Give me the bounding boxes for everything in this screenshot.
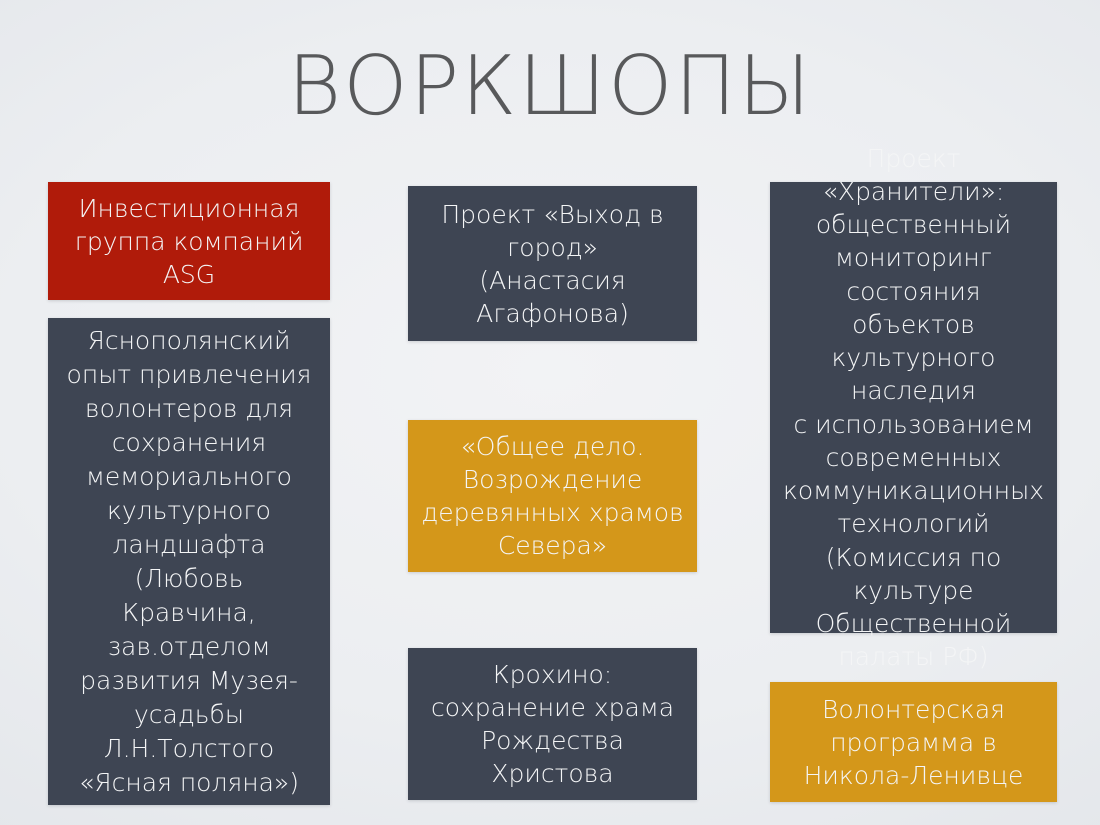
card-investment-group-asg[interactable]: Инвестиционная группа компаний ASG <box>48 182 330 300</box>
card-project-vyhod-v-gorod[interactable]: Проект «Выход в город» (Анастасия Агафон… <box>408 186 697 341</box>
card-label: «Общее дело. Возрождение деревянных храм… <box>420 430 685 562</box>
card-label: Волонтерская программа в Никола-Ленивце <box>782 693 1045 792</box>
card-label: Проект «Выход в город» (Анастасия Агафон… <box>420 198 685 330</box>
card-label: Крохино: сохранение храма Рождества Хрис… <box>420 658 685 790</box>
card-project-hraniteli-monitoring[interactable]: Проект «Хранители»: общественный монитор… <box>770 182 1057 633</box>
card-volunteer-program-nikola-lenivets[interactable]: Волонтерская программа в Никола-Ленивце <box>770 682 1057 802</box>
card-label: Инвестиционная группа компаний ASG <box>60 192 318 291</box>
page-title: ВОРКШОПЫ <box>0 44 1100 130</box>
card-obshee-delo-wooden-temples[interactable]: «Общее дело. Возрождение деревянных храм… <box>408 420 697 572</box>
card-label: Яснополянский опыт привлечения волонтеро… <box>60 324 318 800</box>
card-yasnaya-polyana-volunteers[interactable]: Яснополянский опыт привлечения волонтеро… <box>48 318 330 805</box>
card-label: Проект «Хранители»: общественный монитор… <box>782 142 1045 674</box>
presentation-slide: ВОРКШОПЫ Инвестиционная группа компаний … <box>0 0 1100 825</box>
card-krohino-temple-preservation[interactable]: Крохино: сохранение храма Рождества Хрис… <box>408 648 697 800</box>
